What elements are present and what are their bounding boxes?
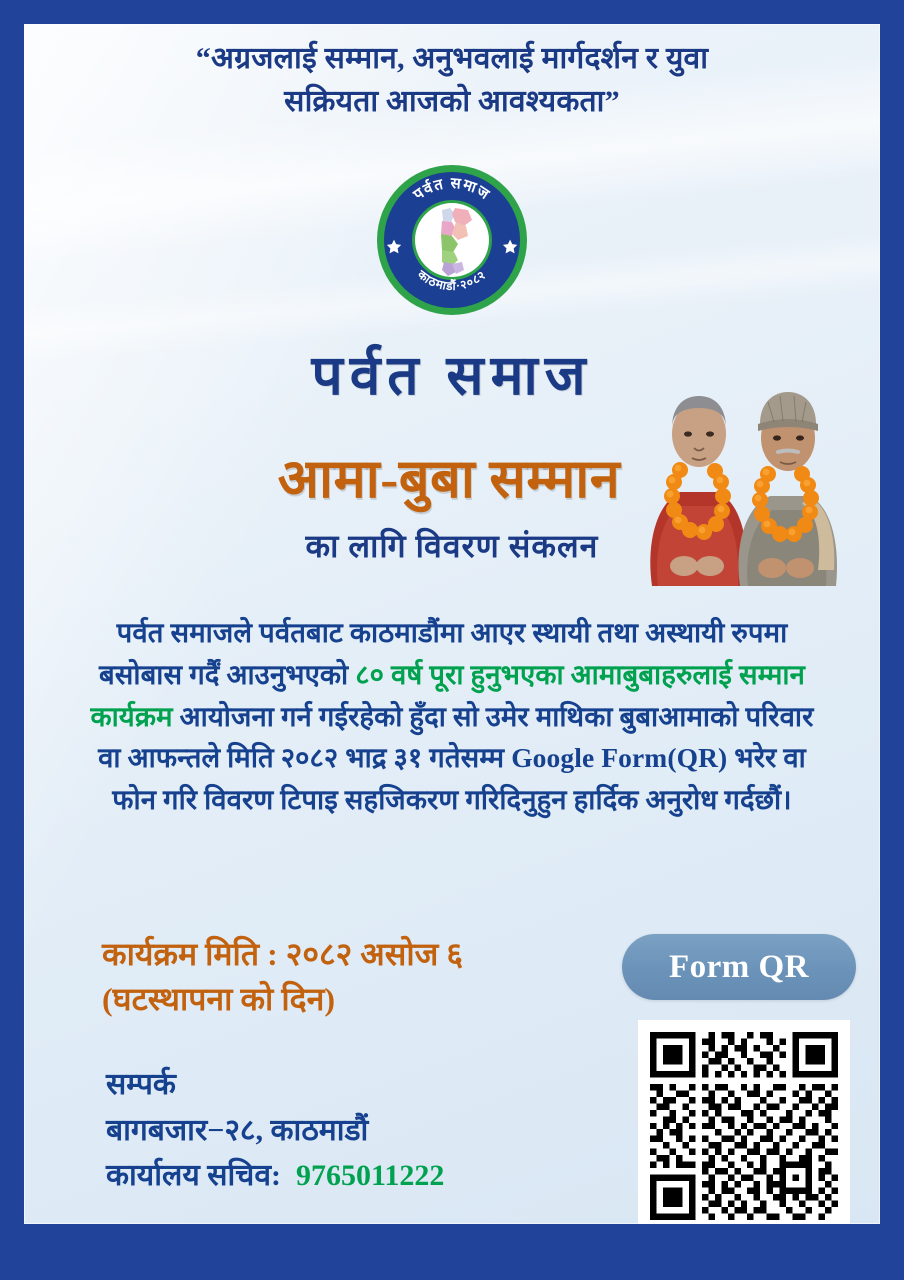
body-paragraph: पर्वत समाजले पर्वतबाट काठमाडौंमा आएर स्थ…	[76, 612, 828, 821]
slogan-line-1: “अग्रजलाई सम्मान, अनुभवलाई मार्गदर्शन र …	[84, 38, 820, 81]
contact-secretary-label: कार्यालय सचिव:	[106, 1159, 281, 1192]
form-qr-button[interactable]: Form QR	[622, 934, 856, 1000]
program-date-line-1: कार्यक्रम मिति : २०८२ असोज ६	[102, 932, 622, 977]
program-date-line-2: (घटस्थापना को दिन)	[102, 977, 622, 1022]
slogan: “अग्रजलाई सम्मान, अनुभवलाई मार्गदर्शन र …	[24, 38, 880, 123]
qr-code[interactable]	[638, 1020, 850, 1224]
contact-address: बागबजार−२८, काठमाडौं	[106, 1108, 616, 1154]
logo-seal-icon: पर्वत समाज काठमाडौं·२०८२	[376, 164, 528, 316]
contact-block: सम्पर्क बागबजार−२८, काठमाडौं कार्यालय सच…	[106, 1062, 616, 1199]
organization-logo: पर्वत समाज काठमाडौं·२०८२	[376, 164, 528, 316]
contact-secretary-row: कार्यालय सचिव: 9765011222	[106, 1153, 616, 1199]
slogan-line-2: सक्रियता आजको आवश्यकता”	[84, 81, 820, 124]
contact-phone[interactable]: 9765011222	[296, 1159, 444, 1192]
body-segment-3: आयोजना गर्न गईरहेको हुँदा सो उमेर माथिका…	[98, 701, 813, 816]
program-date: कार्यक्रम मिति : २०८२ असोज ६ (घटस्थापना …	[102, 932, 622, 1023]
poster-sheet: “अग्रजलाई सम्मान, अनुभवलाई मार्गदर्शन र …	[24, 24, 880, 1224]
page-title: पर्वत समाज	[24, 336, 880, 411]
poster-frame: “अग्रजलाई सम्मान, अनुभवलाई मार्गदर्शन र …	[0, 0, 904, 1280]
sub-headline: का लागि विवरण संकलन	[24, 524, 880, 567]
main-headline: आमा-बुबा सम्मान	[24, 439, 880, 513]
contact-label: सम्पर्क	[106, 1062, 616, 1108]
qr-code-icon	[650, 1032, 838, 1220]
